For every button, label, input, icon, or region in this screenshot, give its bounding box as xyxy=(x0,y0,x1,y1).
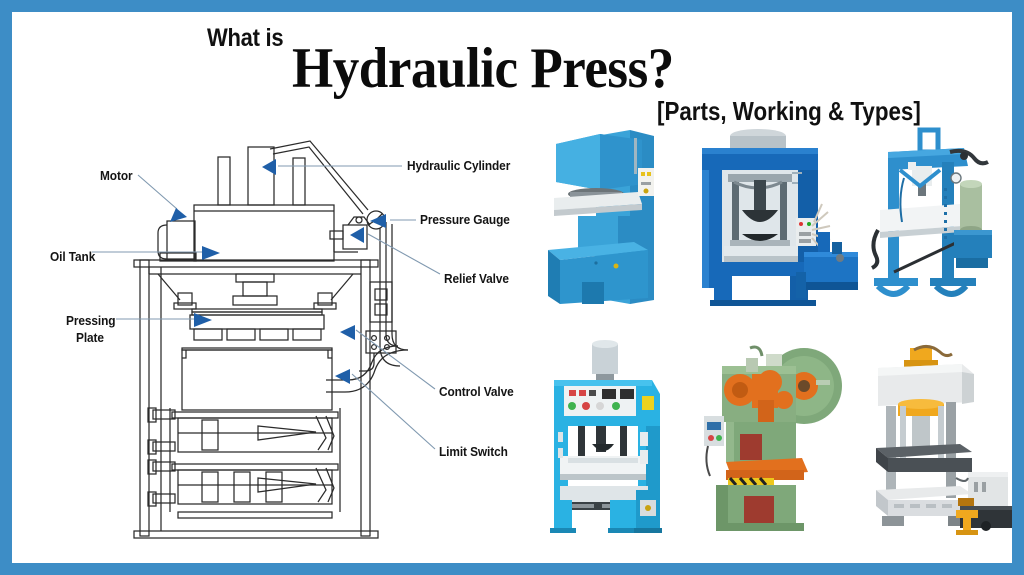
gallery-item-four-post-hydraulic-press xyxy=(856,340,1012,535)
poster-canvas: What is Hydraulic Press? [Parts, Working… xyxy=(12,12,1012,563)
label-pressing-plate: Pressing xyxy=(66,315,115,328)
label-oil-tank: Oil Tank xyxy=(50,251,95,264)
label-hydraulic-cylinder: Hydraulic Cylinder xyxy=(407,160,510,173)
label-relief-valve: Relief Valve xyxy=(444,273,509,286)
poster-frame: What is Hydraulic Press? [Parts, Working… xyxy=(0,0,1024,575)
press-type-gallery xyxy=(524,122,1012,542)
gallery-item-heat-transfer-plate-press xyxy=(534,340,684,535)
label-control-valve: Control Valve xyxy=(439,386,514,399)
gallery-item-c-frame-hydraulic-press xyxy=(534,122,684,312)
hydraulic-press-schematic xyxy=(12,12,542,563)
label-pressing-plate-line2: Plate xyxy=(76,332,104,345)
label-motor: Motor xyxy=(100,170,133,183)
label-pressure-gauge: Pressure Gauge xyxy=(420,214,510,227)
gallery-item-mechanical-power-press xyxy=(692,340,862,535)
label-limit-switch: Limit Switch xyxy=(439,446,508,459)
gallery-item-h-frame-workshop-press xyxy=(864,122,1012,312)
gallery-item-four-column-hydraulic-press xyxy=(692,122,862,312)
